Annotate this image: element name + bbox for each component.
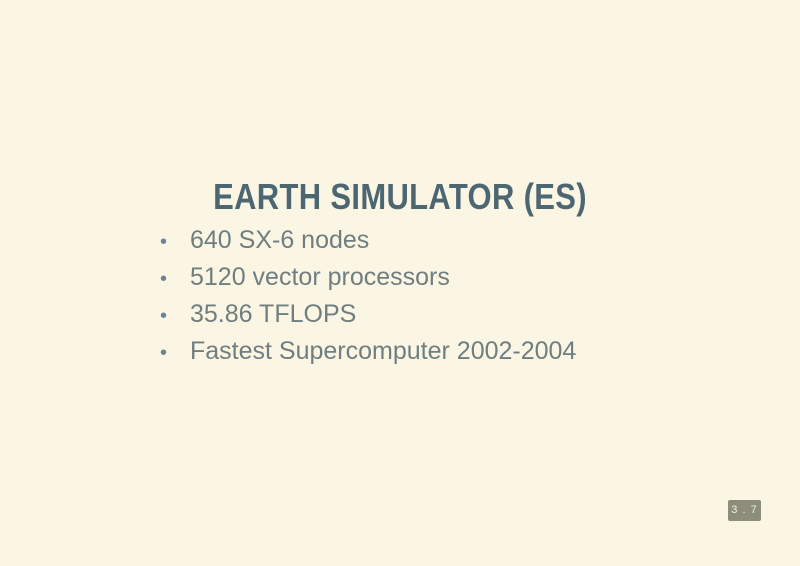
bullet-list: • 640 SX-6 nodes • 5120 vector processor… (160, 222, 760, 370)
presentation-slide: EARTH SIMULATOR (ES) • 640 SX-6 nodes • … (0, 0, 800, 566)
page-title: EARTH SIMULATOR (ES) (56, 176, 744, 217)
list-item: • 5120 vector processors (160, 259, 760, 296)
list-item-label: 5120 vector processors (190, 259, 450, 296)
list-item-label: Fastest Supercomputer 2002-2004 (190, 333, 576, 370)
slide-number-badge[interactable]: 3 . 7 (728, 500, 761, 521)
list-item-label: 35.86 TFLOPS (190, 296, 356, 333)
list-item: • 35.86 TFLOPS (160, 296, 760, 333)
list-item: • Fastest Supercomputer 2002-2004 (160, 333, 760, 370)
bullet-point-icon: • (160, 335, 190, 372)
bullet-point-icon: • (160, 298, 190, 335)
bullet-point-icon: • (160, 261, 190, 298)
list-item-label: 640 SX-6 nodes (190, 222, 369, 259)
list-item: • 640 SX-6 nodes (160, 222, 760, 259)
bullet-point-icon: • (160, 224, 190, 261)
